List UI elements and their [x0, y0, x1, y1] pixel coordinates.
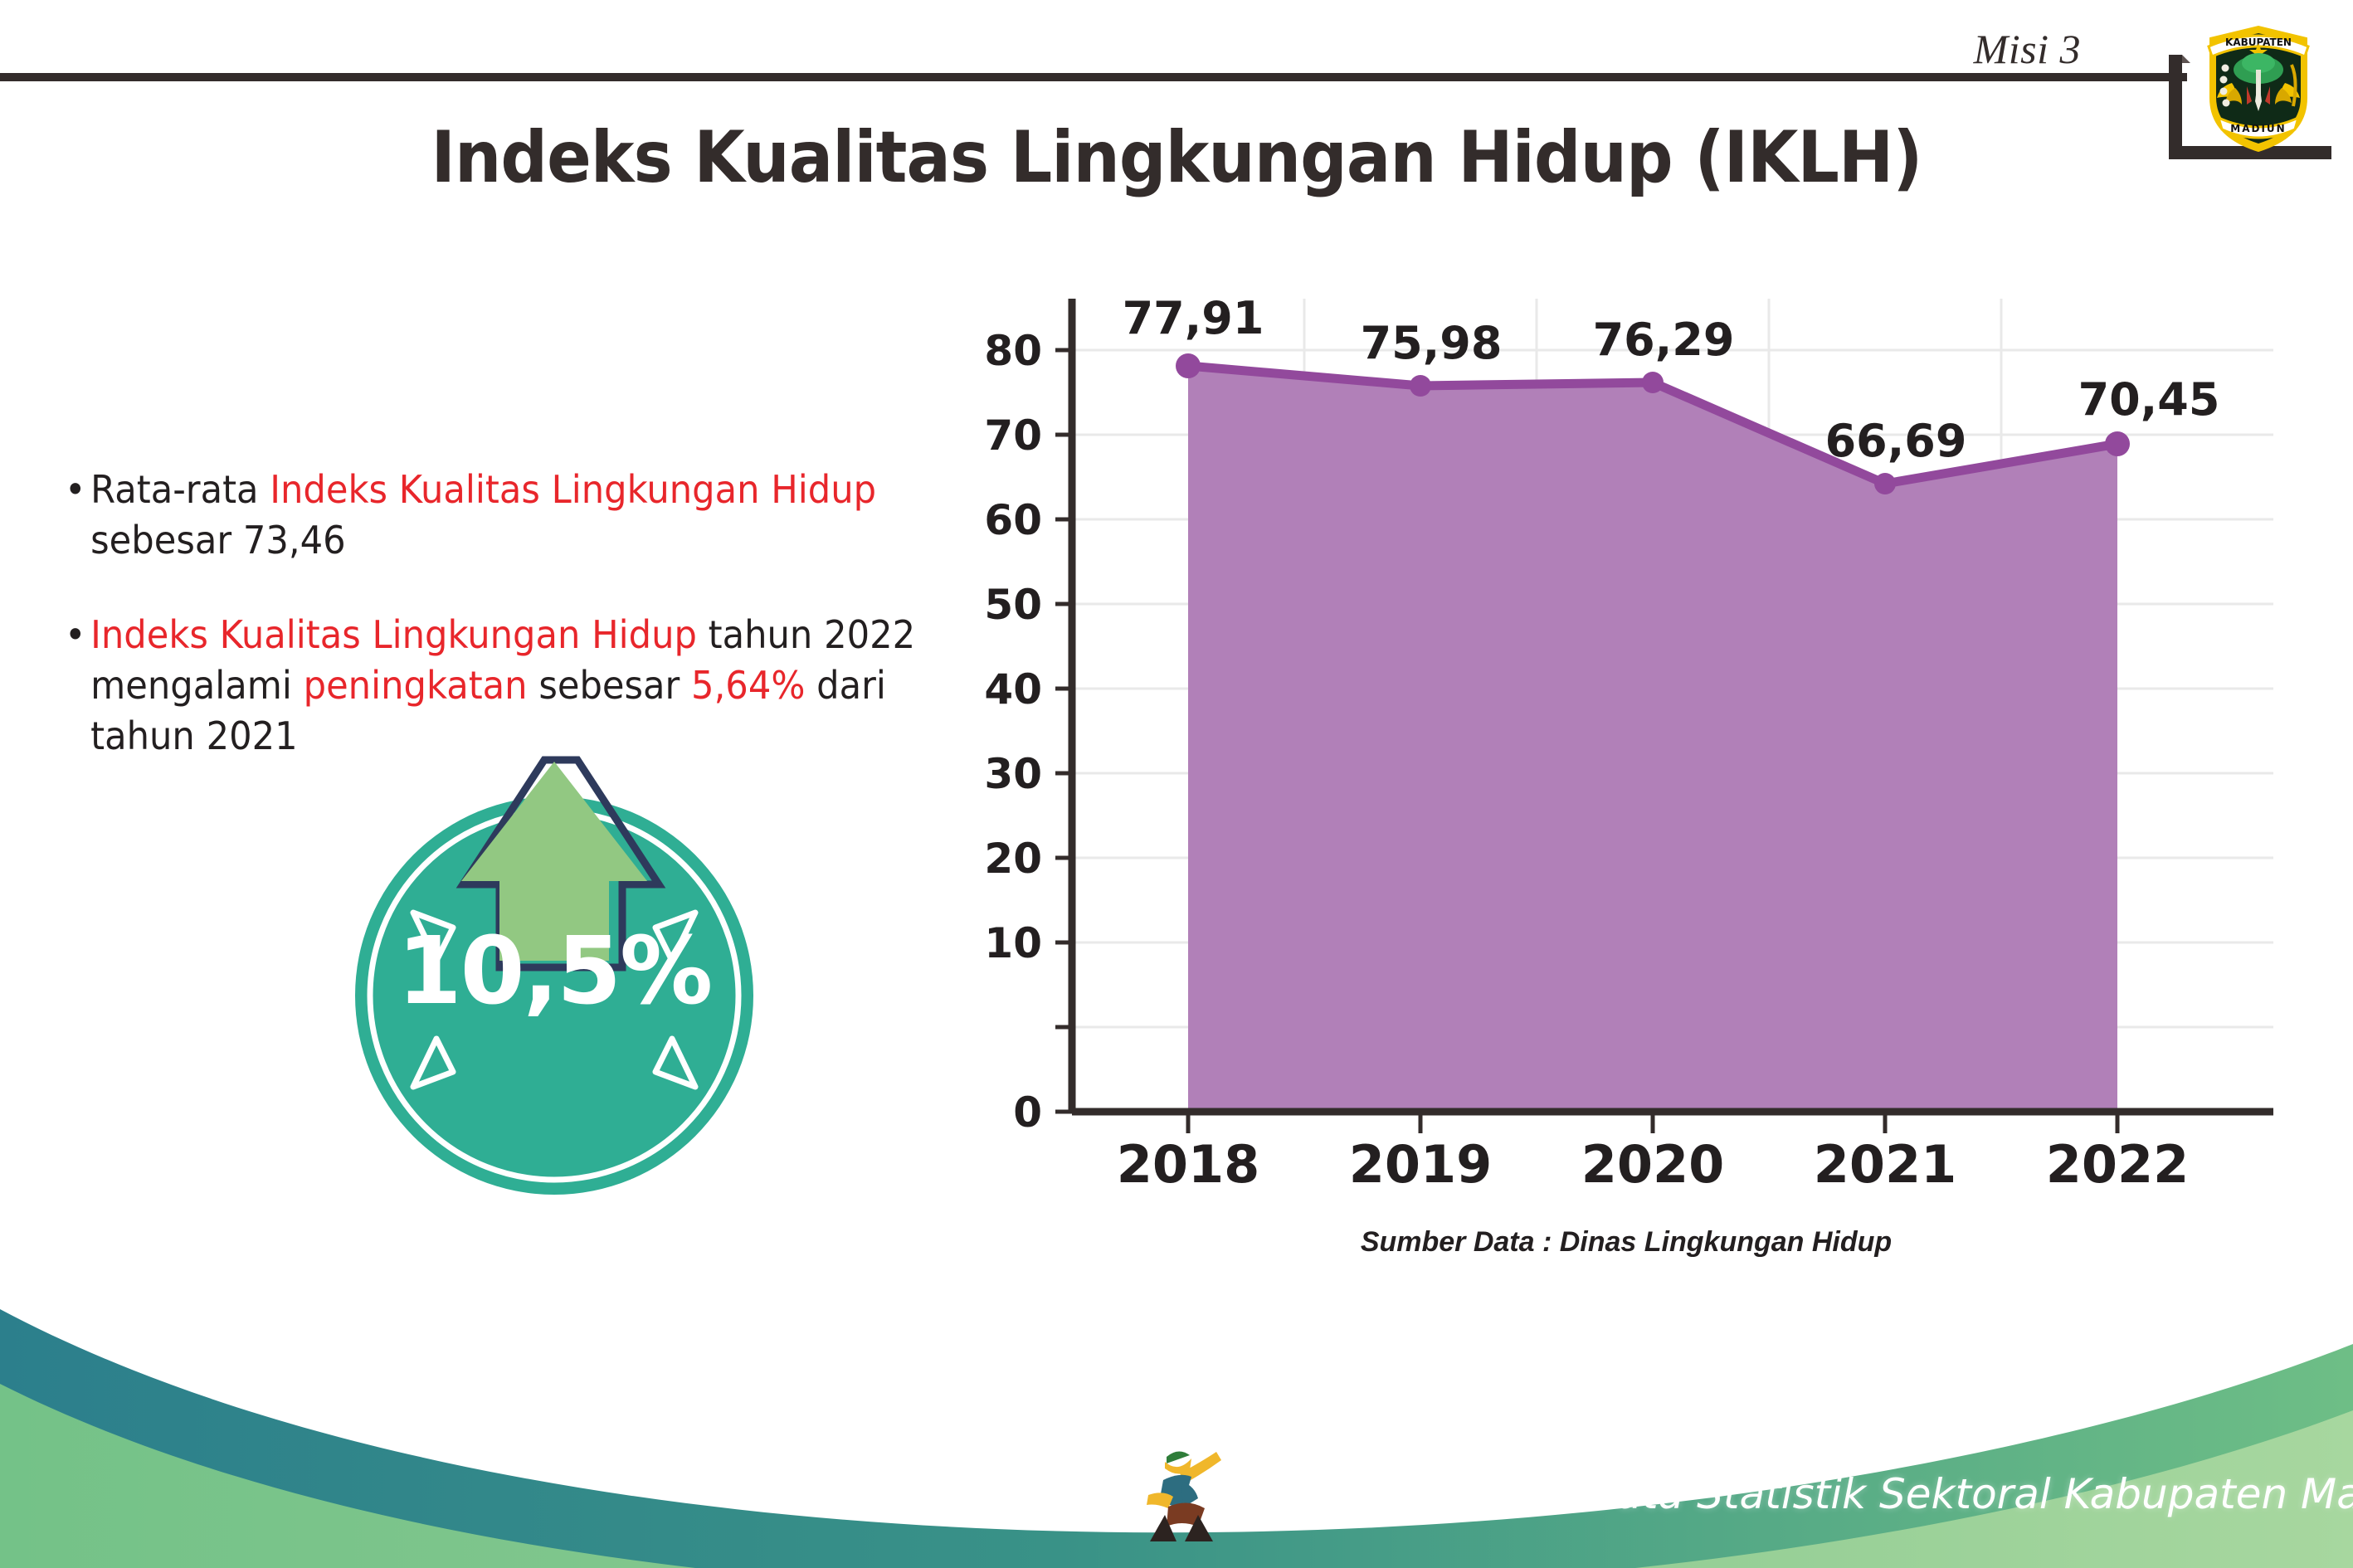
bullet-segment: sebesar: [528, 663, 691, 708]
footer-caption: Media Infografis Data Statistik Sektoral…: [1238, 1470, 2353, 1518]
bullet-segment-highlight: Indeks Kualitas Lingkungan Hidup: [270, 467, 876, 512]
x-tick-label: 2019: [1349, 1134, 1493, 1186]
bullet-text: Indeks Kualitas Lingkungan Hidup tahun 2…: [90, 610, 946, 761]
data-label: 66,69: [1825, 415, 1967, 467]
bullet-marker: •: [65, 610, 86, 660]
bullet-segment-highlight: peningkatan: [304, 663, 528, 708]
page-title: Indeks Kualitas Lingkungan Hidup (IKLH): [94, 116, 2258, 199]
chart-y-tick-labels: 80 70 60 50 40 30 20 10 0: [984, 327, 1042, 1137]
data-label: 75,98: [1361, 317, 1503, 369]
list-item: • Rata-rata Indeks Kualitas Lingkungan H…: [65, 465, 946, 565]
y-tick-label: 40: [984, 665, 1042, 713]
y-tick-label: 0: [1013, 1088, 1042, 1137]
y-tick-label: 10: [984, 919, 1042, 967]
y-tick-label: 70: [984, 411, 1042, 460]
bullet-segment: Rata-rata: [90, 467, 270, 512]
bullet-segment: sebesar 73,46: [90, 518, 346, 562]
x-tick-label: 2018: [1117, 1134, 1260, 1186]
badge-value: 10,5%: [330, 918, 778, 1025]
bullet-segment-highlight: 5,64%: [691, 663, 805, 708]
y-tick-label: 60: [984, 496, 1042, 544]
bullet-marker: •: [65, 465, 86, 515]
x-tick-label: 2020: [1581, 1134, 1725, 1186]
header-divider-rule: [0, 73, 2187, 81]
bullet-segment-highlight: Indeks Kualitas Lingkungan Hidup: [90, 612, 697, 657]
x-tick-label: 2022: [2046, 1134, 2190, 1186]
increase-badge: 10,5%: [330, 755, 778, 1203]
data-label: 70,45: [2078, 373, 2220, 426]
list-item: • Indeks Kualitas Lingkungan Hidup tahun…: [65, 610, 946, 761]
data-label: 77,91: [1123, 299, 1264, 344]
data-label: 76,29: [1593, 314, 1735, 366]
chart-area-fill: [1188, 366, 2117, 1112]
y-tick-label: 30: [984, 750, 1042, 798]
y-tick-label: 20: [984, 835, 1042, 883]
chart-source-note: Sumber Data : Dinas Lingkungan Hidup: [979, 1226, 2273, 1259]
dancer-figure-logo-icon: [1143, 1444, 1230, 1543]
chart-x-tick-labels: 2018 2019 2020 2021 2022: [1117, 1134, 2190, 1186]
iklh-area-chart: 80 70 60 50 40 30 20 10 0 2018 2019 2020…: [979, 299, 2273, 1186]
misi-label: Misi 3: [1974, 25, 2081, 73]
x-tick-label: 2021: [1814, 1134, 1957, 1186]
y-tick-label: 50: [984, 581, 1042, 629]
y-tick-label: 80: [984, 327, 1042, 375]
bullet-text: Rata-rata Indeks Kualitas Lingkungan Hid…: [90, 465, 946, 565]
